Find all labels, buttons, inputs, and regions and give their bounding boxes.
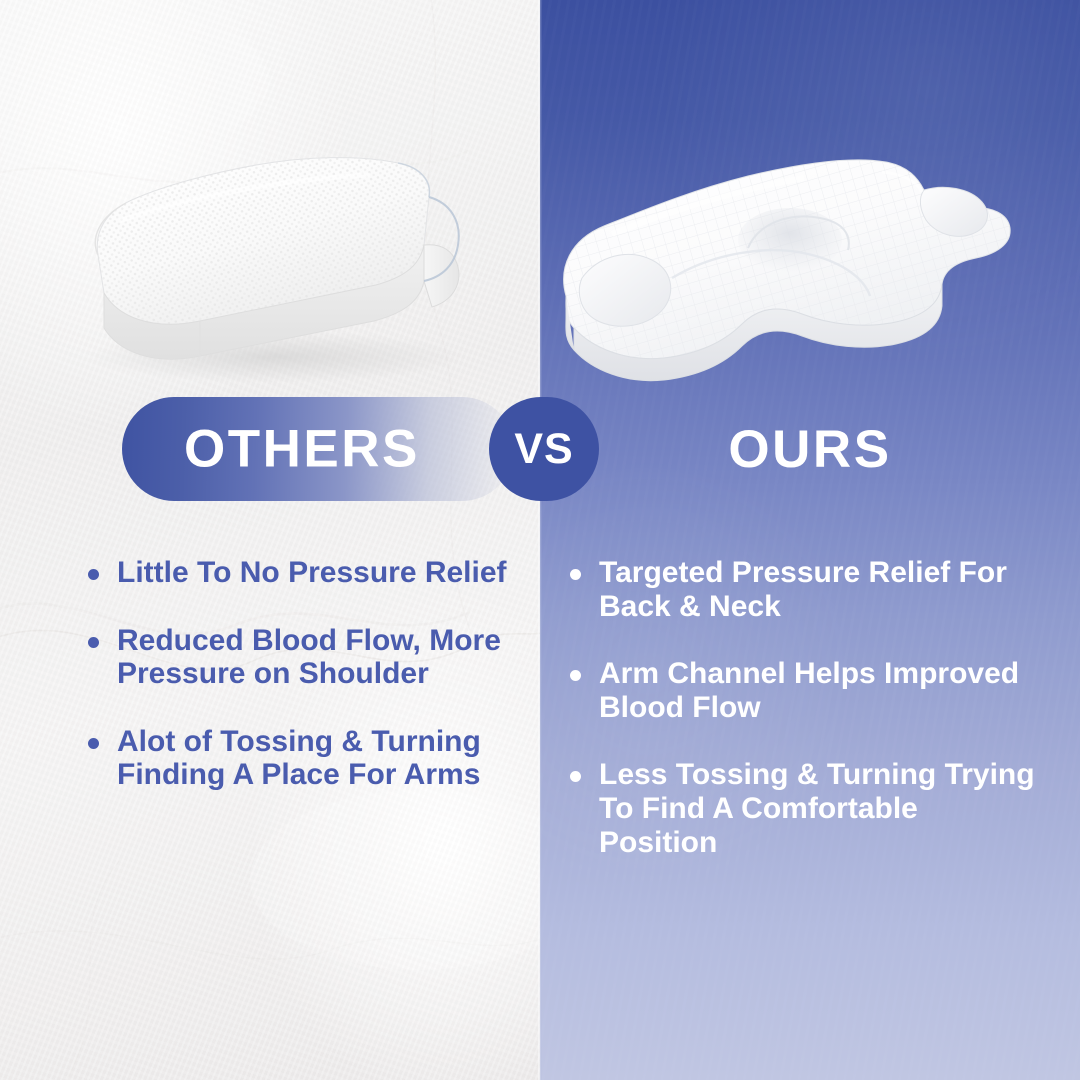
bullet-dot-icon bbox=[88, 569, 99, 580]
list-item: Arm Channel Helps Improved Blood Flow bbox=[566, 657, 1036, 724]
list-item: Alot of Tossing & Turning Finding A Plac… bbox=[84, 725, 536, 792]
bullet-text: Reduced Blood Flow, More Pressure on Sho… bbox=[117, 624, 501, 691]
list-item: Reduced Blood Flow, More Pressure on Sho… bbox=[84, 624, 536, 691]
bullet-text: Alot of Tossing & Turning Finding A Plac… bbox=[117, 725, 481, 792]
others-product-image bbox=[60, 125, 490, 390]
bullet-dot-icon bbox=[570, 569, 581, 580]
vs-badge: VS bbox=[489, 397, 599, 501]
comparison-infographic: OTHERS VS OURS Little To No Pressure Rel… bbox=[0, 0, 1080, 1080]
bullet-text: Targeted Pressure Relief For Back & Neck bbox=[599, 556, 1007, 623]
ours-heading: OURS bbox=[620, 397, 1000, 501]
bullet-text: Little To No Pressure Relief bbox=[117, 556, 507, 589]
others-bullet-list: Little To No Pressure Relief Reduced Blo… bbox=[84, 556, 536, 792]
bullet-dot-icon bbox=[570, 670, 581, 681]
bullet-dot-icon bbox=[570, 771, 581, 782]
ours-product-image bbox=[552, 128, 1022, 396]
bullet-dot-icon bbox=[88, 637, 99, 648]
others-banner-pill: OTHERS bbox=[122, 397, 514, 501]
list-item: Targeted Pressure Relief For Back & Neck bbox=[566, 556, 1036, 623]
bullet-dot-icon bbox=[88, 738, 99, 749]
list-item: Little To No Pressure Relief bbox=[84, 556, 536, 590]
others-heading: OTHERS bbox=[184, 423, 420, 476]
bullet-text: Less Tossing & Turning Trying To Find A … bbox=[599, 758, 1035, 858]
vs-label: VS bbox=[514, 428, 573, 471]
ours-bullet-list: Targeted Pressure Relief For Back & Neck… bbox=[566, 556, 1036, 859]
list-item: Less Tossing & Turning Trying To Find A … bbox=[566, 758, 1036, 859]
comparison-banner: OTHERS VS OURS bbox=[0, 397, 1080, 501]
bullet-text: Arm Channel Helps Improved Blood Flow bbox=[599, 657, 1019, 724]
